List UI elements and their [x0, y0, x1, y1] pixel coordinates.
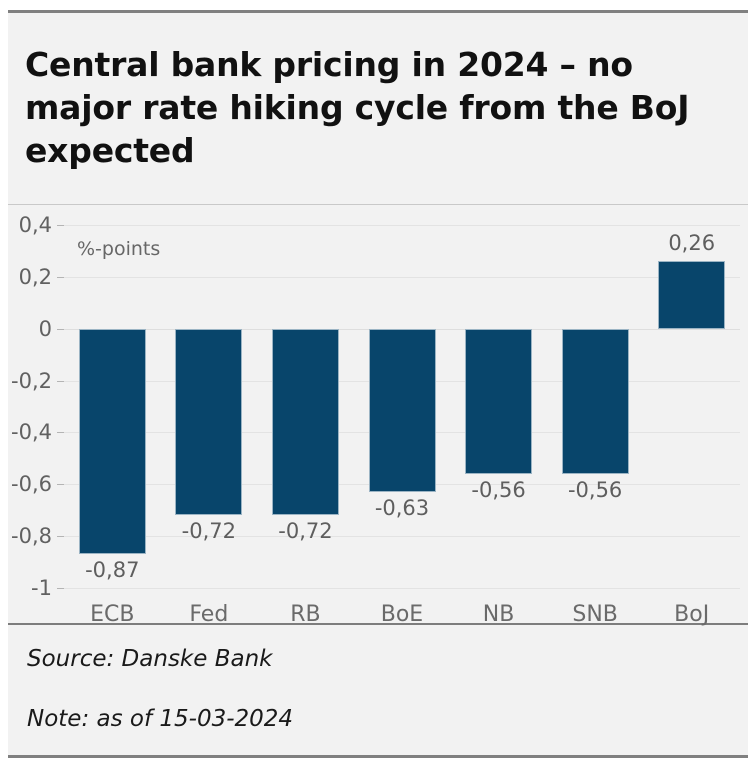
- bar-boj[interactable]: [658, 261, 725, 328]
- y-tick-mark: [57, 277, 64, 278]
- chart-section: %-points 0,40,20-0,2-0,4-0,6-0,8-1 -0,87…: [8, 208, 748, 625]
- plot-area: %-points 0,40,20-0,2-0,4-0,6-0,8-1 -0,87…: [64, 225, 740, 588]
- y-tick-mark: [57, 381, 64, 382]
- y-tick-label: -0,8: [11, 524, 52, 548]
- y-tick-label: 0,2: [19, 265, 52, 289]
- bar-boe[interactable]: [369, 329, 436, 492]
- y-tick-mark: [57, 432, 64, 433]
- page-title: Central bank pricing in 2024 – no major …: [25, 43, 715, 172]
- y-axis-unit-label: %-points: [77, 238, 160, 260]
- y-tick-label: -0,6: [11, 472, 52, 496]
- x-tick-label-rb: RB: [257, 602, 354, 627]
- x-tick-label-fed: Fed: [161, 602, 258, 627]
- y-tick-mark: [57, 536, 64, 537]
- bar-value-label: -0,56: [537, 478, 654, 502]
- bar-value-label: -0,87: [54, 558, 171, 582]
- bar-fed[interactable]: [175, 329, 242, 516]
- chart-card: Central bank pricing in 2024 – no major …: [8, 10, 748, 758]
- bar-snb[interactable]: [562, 329, 629, 474]
- gridline: [64, 225, 740, 226]
- x-tick-label-nb: NB: [450, 602, 547, 627]
- y-tick-label: -1: [31, 576, 52, 600]
- y-tick-label: 0: [39, 317, 52, 341]
- x-tick-label-ecb: ECB: [64, 602, 161, 627]
- x-tick-label-boj: BoJ: [643, 602, 740, 627]
- bar-value-label: 0,26: [633, 231, 750, 255]
- y-tick-mark: [57, 329, 64, 330]
- title-section: Central bank pricing in 2024 – no major …: [8, 13, 748, 205]
- footer-section: Source: Danske Bank Note: as of 15-03-20…: [8, 627, 748, 758]
- note-label: Note: as of 15-03-2024: [27, 706, 293, 732]
- y-tick-mark: [57, 484, 64, 485]
- y-tick-label: 0,4: [19, 213, 52, 237]
- bar-rb[interactable]: [272, 329, 339, 516]
- x-tick-label-boe: BoE: [354, 602, 451, 627]
- bar-ecb[interactable]: [79, 329, 146, 555]
- y-tick-mark: [57, 225, 64, 226]
- x-tick-label-snb: SNB: [547, 602, 644, 627]
- y-tick-label: -0,2: [11, 369, 52, 393]
- gridline: [64, 277, 740, 278]
- source-label: Source: Danske Bank: [27, 646, 272, 672]
- bar-nb[interactable]: [465, 329, 532, 474]
- gridline: [64, 588, 740, 589]
- y-tick-mark: [57, 588, 64, 589]
- y-tick-label: -0,4: [11, 420, 52, 444]
- bar-value-label: -0,72: [247, 519, 364, 543]
